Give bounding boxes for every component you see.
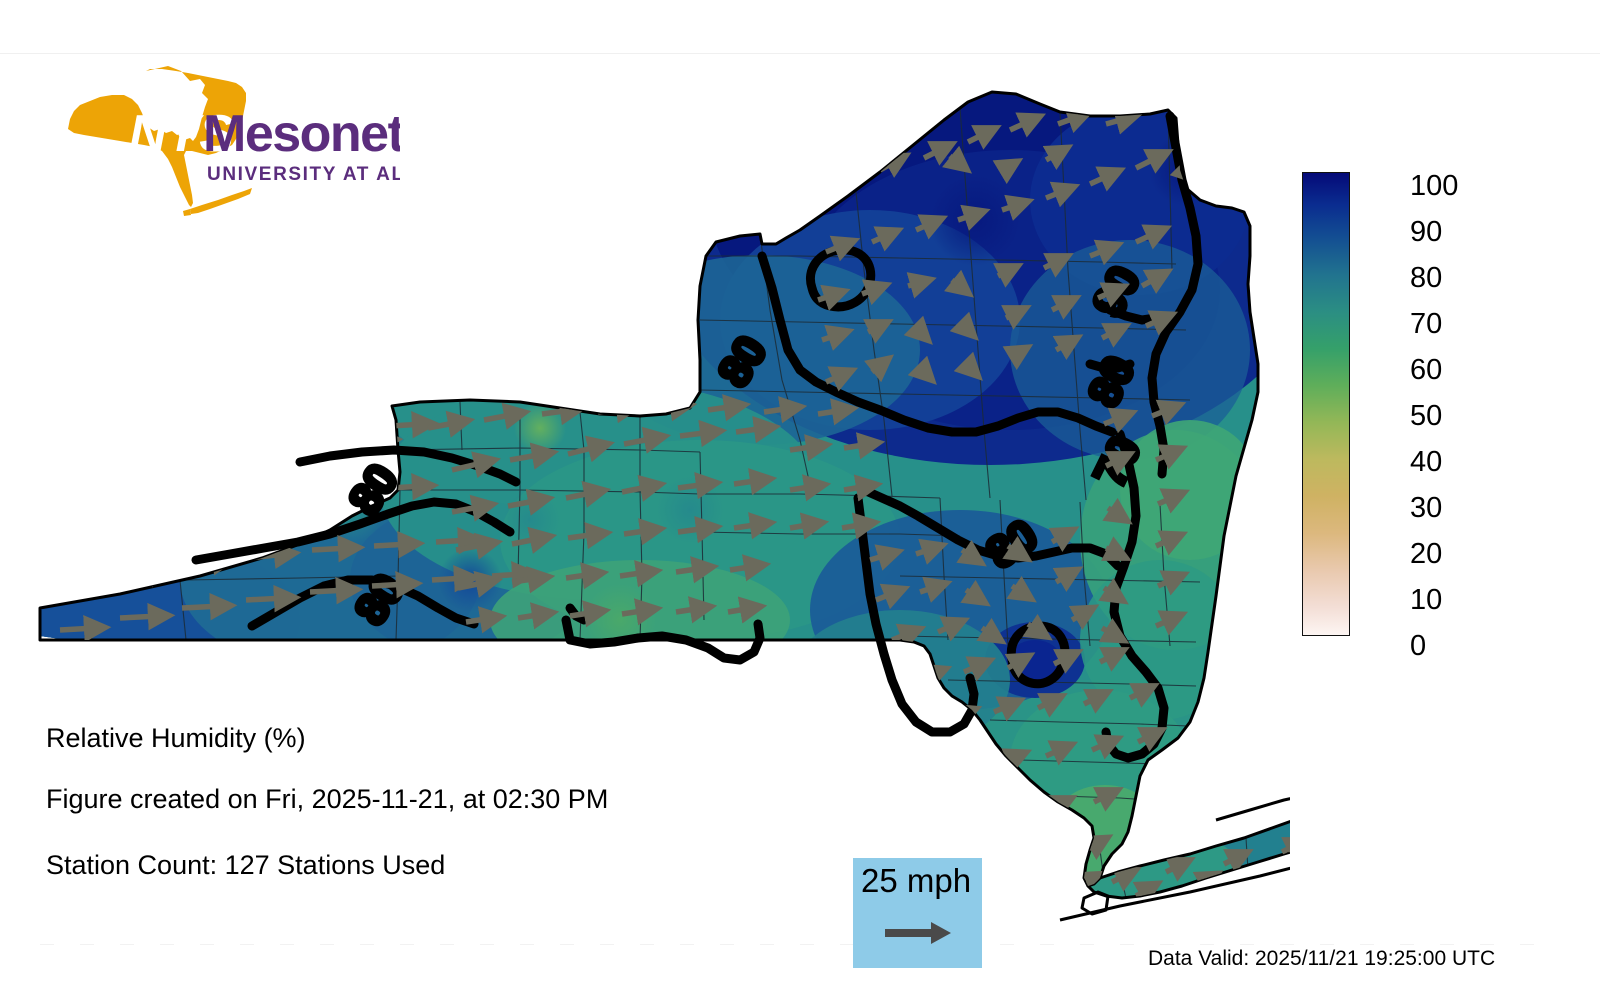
colorbar-tick-30: 30 xyxy=(1410,494,1442,523)
wind-key-arrow-icon xyxy=(885,920,953,951)
colorbar-tick-80: 80 xyxy=(1410,264,1442,293)
colorbar-tick-0: 0 xyxy=(1410,632,1426,661)
wind-key-label: 25 mph xyxy=(861,862,971,900)
colorbar-tick-labels: 100 90 80 70 60 50 40 30 20 10 0 xyxy=(1410,160,1490,650)
colorbar-tick-50: 50 xyxy=(1410,402,1442,431)
colorbar-tick-70: 70 xyxy=(1410,310,1442,339)
data-valid-timestamp: Data Valid: 2025/11/21 19:25:00 UTC xyxy=(1148,947,1495,971)
colorbar-tick-10: 10 xyxy=(1410,586,1442,615)
colorbar-tick-60: 60 xyxy=(1410,356,1442,385)
colorbar-tick-100: 100 xyxy=(1410,172,1458,201)
figure-created-caption: Figure created on Fri, 2025-11-21, at 02… xyxy=(46,784,608,815)
colorbar-tick-90: 90 xyxy=(1410,218,1442,247)
frame-artifact-bottom xyxy=(40,944,1560,945)
station-count-caption: Station Count: 127 Stations Used xyxy=(46,850,445,881)
figure-root: NYS Mesonet UNIVERSITY AT ALBANY xyxy=(0,0,1600,1000)
variable-caption: Relative Humidity (%) xyxy=(46,723,306,754)
colorbar-tick-20: 20 xyxy=(1410,540,1442,569)
wind-speed-key: 25 mph xyxy=(853,858,982,968)
colorbar xyxy=(1302,172,1350,636)
colorbar-gradient xyxy=(1303,173,1349,635)
colorbar-tick-40: 40 xyxy=(1410,448,1442,477)
